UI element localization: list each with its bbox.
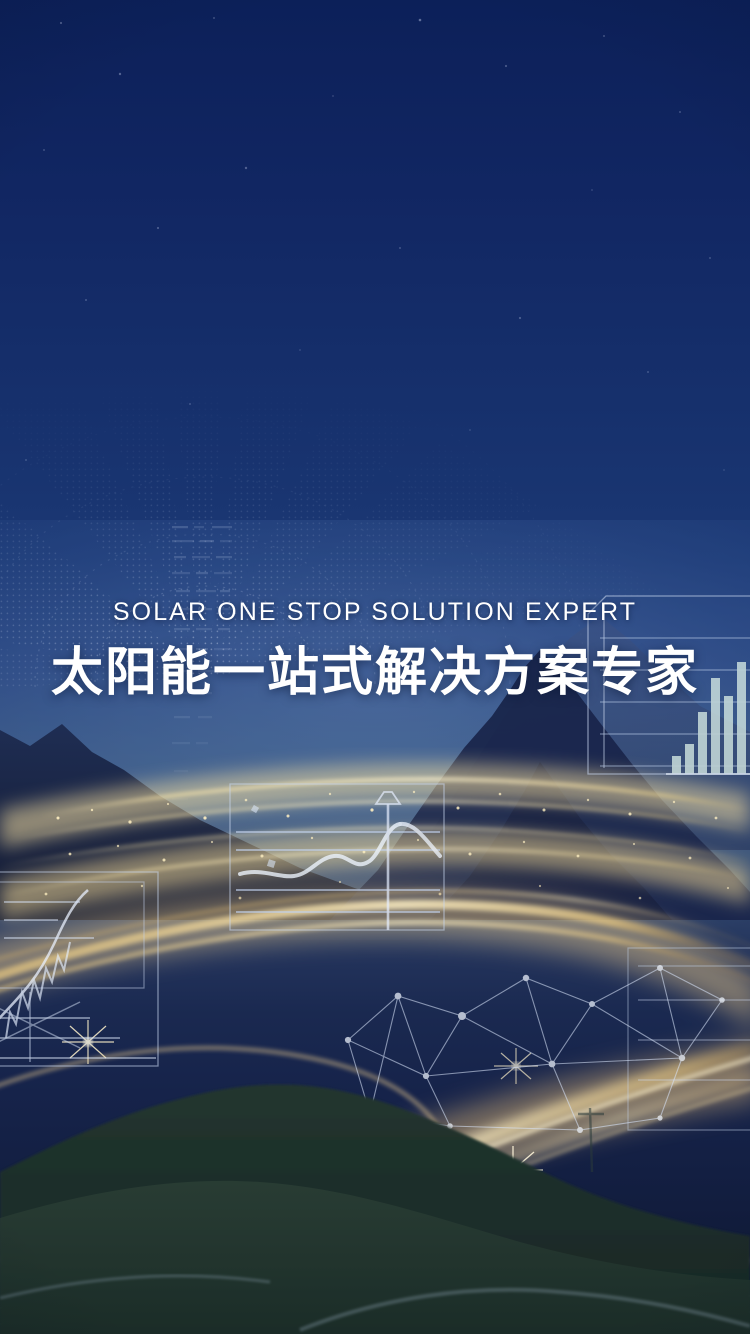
small-hud-panel [0,876,150,996]
solar-banner-image: SOLAR ONE STOP SOLUTION EXPERT 太阳能一站式解决方… [0,0,750,1334]
banner-text-block: SOLAR ONE STOP SOLUTION EXPERT 太阳能一站式解决方… [0,600,750,699]
banner-eyebrow: SOLAR ONE STOP SOLUTION EXPERT [0,600,750,625]
banner-headline: 太阳能一站式解决方案专家 [0,647,750,699]
foreground-hill [0,1030,750,1334]
